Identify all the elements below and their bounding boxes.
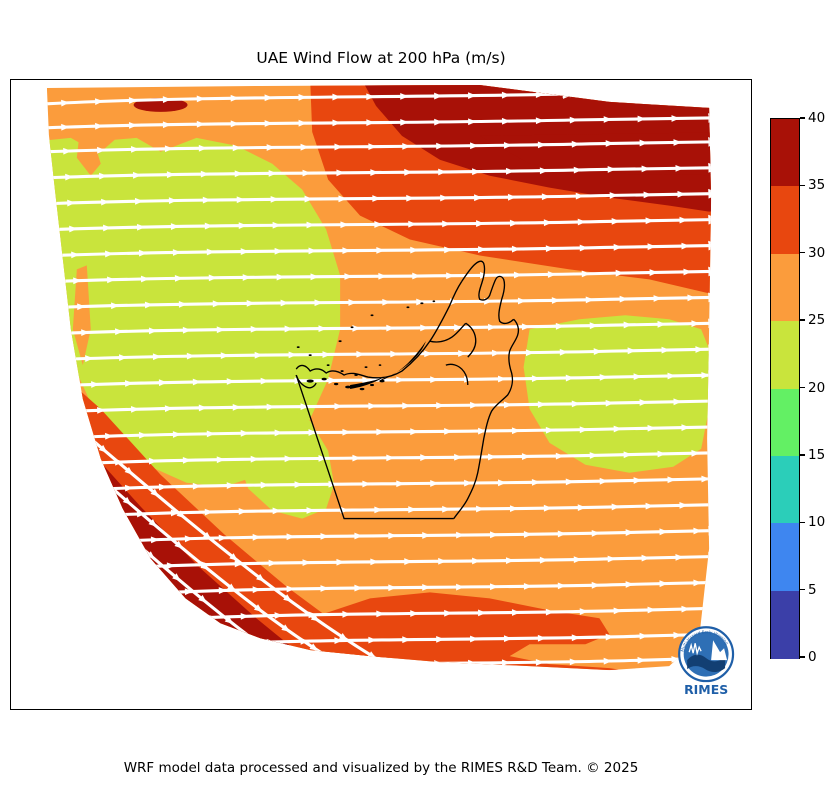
streamline-arrowhead bbox=[371, 701, 381, 709]
colorbar-band-20-25 bbox=[771, 321, 799, 389]
streamline-arrowhead bbox=[298, 662, 307, 669]
streamline-arrowhead bbox=[251, 668, 262, 678]
colorbar-tick-mark bbox=[800, 387, 805, 388]
streamline-arrowhead bbox=[164, 687, 175, 697]
colorbar-tick-label: 30 bbox=[808, 244, 825, 262]
colorbar-tick-mark bbox=[800, 454, 805, 455]
streamline-arrowhead bbox=[225, 682, 236, 692]
streamline-arrowhead bbox=[332, 662, 341, 669]
streamline-arrowhead bbox=[366, 661, 374, 668]
streamline-arrowhead bbox=[102, 608, 113, 619]
streamline-arrowhead bbox=[400, 660, 408, 667]
streamline-arrowhead bbox=[312, 698, 322, 707]
streamline-arrowhead bbox=[47, 525, 58, 536]
colorbar-tick-mark bbox=[800, 589, 805, 590]
streamline-arrowhead bbox=[146, 618, 157, 629]
streamline-arrowhead bbox=[70, 484, 81, 495]
streamline-arrowhead bbox=[125, 680, 136, 690]
streamline-arrowhead bbox=[127, 631, 138, 642]
streamline-arrowhead bbox=[280, 685, 290, 695]
streamline-arrowhead bbox=[145, 583, 156, 594]
streamline-arrowhead bbox=[233, 640, 242, 647]
streamline-arrowhead bbox=[367, 679, 378, 689]
streamline-arrowhead bbox=[63, 597, 74, 608]
streamline-arrowhead bbox=[73, 423, 84, 434]
streamline-arrowhead bbox=[397, 695, 408, 705]
streamline-arrowhead bbox=[638, 90, 646, 97]
streamline-arrowhead bbox=[279, 656, 290, 666]
colorbar-band-25-30 bbox=[771, 254, 799, 322]
streamline-arrowhead bbox=[338, 661, 349, 671]
streamline-arrowhead bbox=[604, 90, 612, 97]
streamline-arrowhead bbox=[76, 633, 87, 644]
streamline-arrowhead bbox=[46, 430, 57, 441]
streamline-arrowhead bbox=[41, 571, 52, 582]
streamline-arrowhead bbox=[47, 401, 58, 412]
streamline-arrowhead bbox=[117, 698, 128, 708]
streamline-arrowhead bbox=[95, 572, 106, 583]
streamline-arrowhead bbox=[197, 626, 208, 637]
streamline-arrowhead bbox=[223, 648, 234, 659]
colorbar-tick-label: 10 bbox=[808, 513, 825, 531]
streamline-arrowhead bbox=[20, 468, 31, 479]
fragment-35-40-a bbox=[85, 654, 120, 673]
colorbar-band-15-20 bbox=[771, 389, 799, 457]
streamline-arrowhead bbox=[152, 653, 163, 664]
streamline-arrowhead bbox=[97, 475, 108, 486]
attribution-footer: WRF model data processed and visualized … bbox=[0, 760, 762, 776]
streamline-arrowhead bbox=[397, 669, 408, 679]
streamline-arrowhead bbox=[96, 506, 107, 517]
colorbar-tick-mark bbox=[800, 117, 805, 118]
map-plot-panel[interactable]: Multi-Hazard Early Warning RIMES bbox=[10, 79, 752, 710]
streamline-arrowhead bbox=[265, 664, 274, 671]
streamline-arrowhead bbox=[94, 669, 105, 680]
colorbar-tick-label: 40 bbox=[808, 109, 825, 127]
colorbar-tick-label: 5 bbox=[808, 581, 817, 599]
streamline-arrowhead bbox=[426, 685, 437, 695]
streamline-arrowhead bbox=[290, 704, 299, 709]
streamline-arrowhead bbox=[54, 607, 65, 618]
streamline-arrowhead bbox=[308, 674, 319, 684]
streamline-arrowhead bbox=[86, 621, 97, 632]
streamline-arrowhead bbox=[178, 675, 189, 686]
wind-speed-colorbar[interactable] bbox=[770, 118, 800, 659]
colorbar-tick-mark bbox=[800, 319, 805, 320]
streamline-arrowhead bbox=[137, 666, 148, 677]
colorbar-band-10-15 bbox=[771, 456, 799, 524]
streamline-arrowhead bbox=[23, 501, 34, 512]
streamline-arrowhead bbox=[172, 640, 183, 651]
streamline-arrowhead bbox=[31, 535, 42, 546]
colorbar-tick-mark bbox=[800, 185, 805, 186]
streamline-arrowhead bbox=[256, 696, 266, 705]
streamline-arrowhead bbox=[72, 643, 83, 654]
streamline-arrowhead bbox=[205, 697, 215, 706]
colorbar-band-0-5 bbox=[771, 591, 799, 659]
streamline-arrowhead bbox=[239, 704, 248, 709]
streamline-arrowhead bbox=[94, 538, 105, 549]
streamline-arrowhead bbox=[45, 461, 56, 472]
streamline-arrowhead bbox=[121, 529, 132, 540]
streamline-arrowhead bbox=[21, 438, 32, 449]
wind-speed-field: Multi-Hazard Early Warning RIMES bbox=[11, 80, 751, 709]
streamline-arrowhead bbox=[120, 595, 131, 606]
colorbar-tick-label: 0 bbox=[808, 648, 817, 666]
colorbar-tick-mark bbox=[800, 522, 805, 523]
colorbar-band-30-35 bbox=[771, 186, 799, 254]
streamline-arrowhead bbox=[570, 90, 578, 97]
streamline-arrowhead bbox=[153, 699, 164, 709]
colorbar-band-35-40 bbox=[771, 119, 799, 187]
streamline-arrowhead bbox=[45, 491, 56, 502]
streamline-arrowhead bbox=[21, 407, 32, 418]
streamline-arrowhead bbox=[346, 705, 355, 709]
streamline-arrowhead bbox=[671, 89, 679, 96]
streamline-arrowhead bbox=[72, 452, 83, 463]
colorbar-tick-mark bbox=[800, 252, 805, 253]
streamline-arrowhead bbox=[69, 515, 80, 526]
rimes-logo-wave bbox=[687, 655, 725, 672]
streamline-arrowhead bbox=[77, 584, 88, 595]
streamline-arrowhead bbox=[171, 605, 182, 616]
rimes-logo-peak bbox=[711, 640, 727, 660]
streamline-arrowhead bbox=[54, 560, 65, 571]
streamline-arrowhead bbox=[119, 560, 130, 571]
streamline-arrowhead bbox=[100, 657, 111, 668]
colorbar-tick-label: 20 bbox=[808, 379, 825, 397]
streamline-arrowhead bbox=[21, 379, 32, 390]
colorbar-tick-label: 35 bbox=[808, 176, 825, 194]
streamline-arrowhead bbox=[71, 549, 82, 560]
colorbar-tick-mark bbox=[800, 656, 805, 657]
colorbar-tick-label: 15 bbox=[808, 446, 825, 464]
title-line-variable: UAE Wind Flow at 200 hPa (m/s) bbox=[0, 48, 762, 68]
streamline-arrowhead bbox=[252, 637, 263, 647]
streamline-arrowhead bbox=[198, 661, 209, 672]
streamline-arrowhead bbox=[120, 691, 131, 701]
rimes-logo-wordmark: RIMES bbox=[684, 682, 728, 697]
colorbar-tick-label: 25 bbox=[808, 311, 825, 329]
streamline-arrowhead bbox=[111, 644, 122, 655]
streamline-arrowhead bbox=[92, 675, 103, 686]
colorbar-band-5-10 bbox=[771, 523, 799, 591]
streamline-arrowhead bbox=[339, 690, 349, 700]
